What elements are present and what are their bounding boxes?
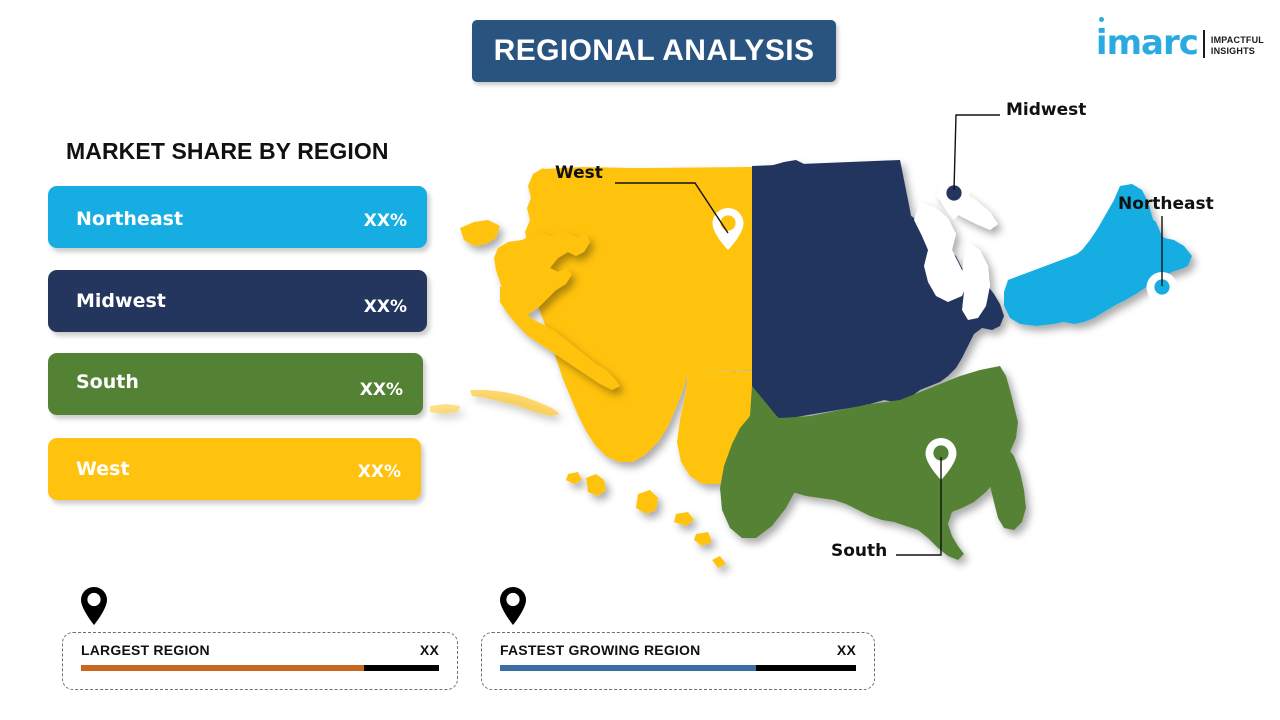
page-title: REGIONAL ANALYSIS bbox=[494, 34, 815, 68]
imarc-logo: imarc IMPACTFUL INSIGHTS bbox=[1096, 14, 1264, 60]
region-bar-south[interactable]: South XX% bbox=[48, 353, 423, 415]
us-region-map bbox=[400, 90, 1280, 590]
leader-line-midwest bbox=[954, 115, 1000, 190]
map-label-west: West bbox=[555, 163, 603, 183]
logo-dot-icon bbox=[1099, 17, 1104, 22]
region-bar-label: Midwest bbox=[76, 290, 364, 312]
leader-line-south bbox=[896, 457, 941, 555]
map-pin-icon bbox=[498, 586, 528, 626]
map-leader-lines bbox=[400, 90, 1280, 590]
region-bar-northeast[interactable]: Northeast XX% bbox=[48, 186, 427, 248]
map-label-midwest: Midwest bbox=[1006, 100, 1086, 120]
logo-wordmark: imarc bbox=[1096, 26, 1198, 60]
largest-region-label: LARGEST REGION bbox=[81, 642, 210, 658]
fastest-growing-region-row: FASTEST GROWING REGION XX bbox=[500, 633, 856, 658]
fastest-growing-region-progress-track bbox=[500, 665, 856, 671]
leader-line-west bbox=[615, 183, 728, 233]
fastest-growing-region-label: FASTEST GROWING REGION bbox=[500, 642, 700, 658]
logo-wordmark-text: imarc bbox=[1096, 23, 1198, 63]
region-bar-label: West bbox=[76, 458, 358, 480]
page-title-banner: REGIONAL ANALYSIS bbox=[472, 20, 836, 82]
market-share-heading: MARKET SHARE BY REGION bbox=[66, 138, 389, 165]
map-pin-icon bbox=[79, 586, 109, 626]
logo-divider bbox=[1203, 30, 1205, 58]
region-bar-value: XX% bbox=[360, 380, 403, 400]
logo-tagline: IMPACTFUL INSIGHTS bbox=[1211, 35, 1264, 57]
logo-tagline-line2: INSIGHTS bbox=[1211, 46, 1264, 57]
region-bar-west[interactable]: West XX% bbox=[48, 438, 421, 500]
largest-region-value: XX bbox=[420, 642, 439, 658]
map-label-south: South bbox=[831, 541, 887, 561]
largest-region-row: LARGEST REGION XX bbox=[81, 633, 439, 658]
largest-region-progress-fill bbox=[81, 665, 364, 671]
fastest-growing-region-stat: FASTEST GROWING REGION XX bbox=[481, 632, 875, 690]
largest-region-stat: LARGEST REGION XX bbox=[62, 632, 458, 690]
largest-region-progress-track bbox=[81, 665, 439, 671]
region-bar-midwest[interactable]: Midwest XX% bbox=[48, 270, 427, 332]
fastest-growing-region-value: XX bbox=[837, 642, 856, 658]
fastest-growing-region-progress-fill bbox=[500, 665, 756, 671]
logo-tagline-line1: IMPACTFUL bbox=[1211, 35, 1264, 46]
region-bar-value: XX% bbox=[358, 462, 401, 482]
region-bar-label: Northeast bbox=[76, 208, 364, 230]
map-label-northeast: Northeast bbox=[1118, 194, 1214, 214]
region-bar-label: South bbox=[76, 371, 360, 393]
